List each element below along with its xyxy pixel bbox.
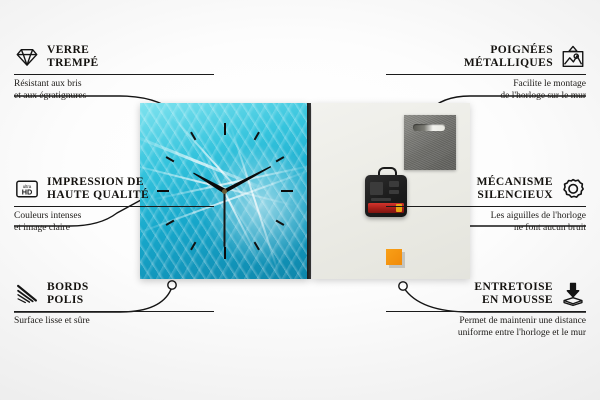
clock-tick — [224, 247, 226, 259]
svg-text:HD: HD — [22, 187, 33, 196]
clock-tick — [275, 220, 284, 226]
gear-icon — [560, 176, 586, 202]
clock-second-hand — [224, 191, 226, 247]
feature-divider — [14, 311, 214, 312]
clock-side-edge — [307, 103, 311, 279]
infographic-canvas: VERRE TREMPÉ Résistant aux bris et aux é… — [0, 0, 600, 400]
picture-hanger-icon — [560, 44, 586, 70]
feature-description: Couleurs intenses et image claire — [14, 211, 214, 234]
feature-title: MÉCANISME SILENCIEUX — [477, 176, 553, 202]
feature-description: Facilite le montage de l'horloge sur le … — [386, 79, 586, 102]
feature-divider — [14, 206, 214, 207]
feature-description: Les aiguilles de l'horloge ne font aucun… — [386, 211, 586, 234]
feature-divider — [14, 74, 214, 75]
feature-verre-trempe: VERRE TREMPÉ Résistant aux bris et aux é… — [14, 44, 214, 102]
feature-divider — [386, 311, 586, 312]
feature-mecanisme-silencieux: MÉCANISME SILENCIEUX Les aiguilles de l'… — [386, 176, 586, 234]
foam-spacer-pad — [386, 249, 402, 265]
feature-title: ENTRETOISE EN MOUSSE — [474, 281, 553, 307]
feature-divider — [386, 74, 586, 75]
feature-poignees-metalliques: POIGNÉES MÉTALLIQUES Facilite le montage… — [386, 44, 586, 102]
clock-tick — [253, 132, 259, 141]
hanger-slot — [413, 124, 445, 131]
diamond-icon — [14, 44, 40, 70]
feature-bords-polis: BORDS POLIS Surface lisse et sûre — [14, 281, 214, 328]
feature-title: BORDS POLIS — [47, 281, 89, 307]
polished-edges-icon — [14, 281, 40, 307]
ultra-hd-icon: ultra HD — [14, 176, 40, 202]
feature-title: POIGNÉES MÉTALLIQUES — [464, 44, 553, 70]
feature-entretoise-en-mousse: ENTRETOISE EN MOUSSE Permet de maintenir… — [386, 281, 586, 339]
clock-tick — [281, 190, 293, 192]
clock-center-cap — [222, 189, 227, 194]
clock-tick — [275, 156, 284, 162]
feature-title: IMPRESSION DE HAUTE QUALITÉ — [47, 176, 149, 202]
clock-tick — [190, 242, 196, 251]
foam-spacer-icon — [560, 281, 586, 307]
clock-tick — [224, 123, 226, 135]
feature-impression-hd: ultra HD IMPRESSION DE HAUTE QUALITÉ Cou… — [14, 176, 214, 234]
feature-description: Surface lisse et sûre — [14, 316, 214, 328]
metal-hanger-plate — [404, 115, 456, 170]
feature-title: VERRE TREMPÉ — [47, 44, 99, 70]
feature-description: Permet de maintenir une distance uniform… — [386, 316, 586, 339]
feature-description: Résistant aux bris et aux égratignures — [14, 79, 214, 102]
feature-divider — [386, 206, 586, 207]
clock-tick — [165, 156, 174, 162]
